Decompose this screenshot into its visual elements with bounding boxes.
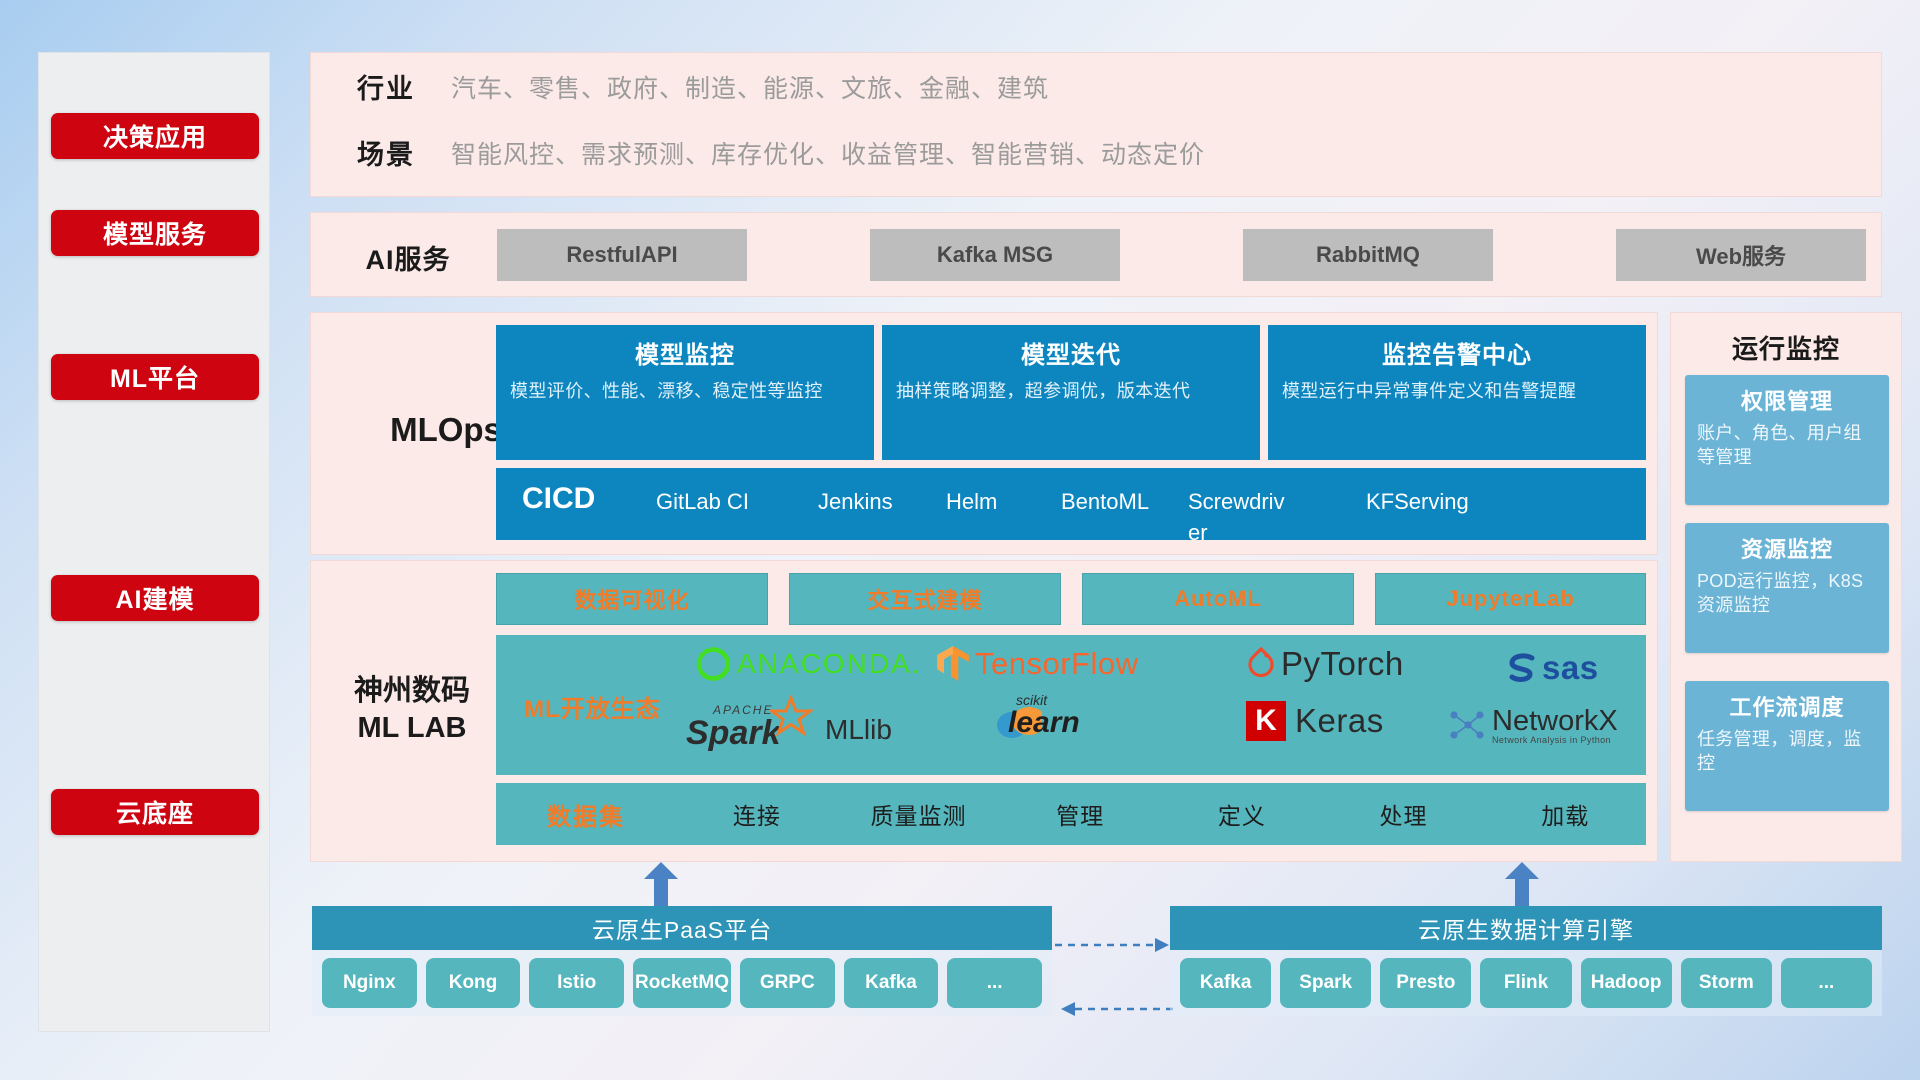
card-desc: POD运行监控，K8S资源监控 <box>1697 570 1877 618</box>
tensorflow-wordmark: TensorFlow <box>975 646 1139 682</box>
mlops-card-model-iteration[interactable]: 模型迭代 抽样策略调整，超参调优，版本迭代 <box>882 325 1260 460</box>
engine-pill-more[interactable]: ... <box>1781 958 1872 1008</box>
ai-service-chip-web-service[interactable]: Web服务 <box>1616 229 1866 281</box>
runtime-monitoring-title: 运行监控 <box>1671 329 1901 366</box>
dataset-item-quality[interactable]: 质量监测 <box>838 797 1000 831</box>
mlops-card-model-monitoring[interactable]: 模型监控 模型评价、性能、漂移、稳定性等监控 <box>496 325 874 460</box>
paas-pill-grpc[interactable]: GRPC <box>740 958 835 1008</box>
mlops-card-alert-center[interactable]: 监控告警中心 模型运行中异常事件定义和告警提醒 <box>1268 325 1646 460</box>
cicd-item-bentoml[interactable]: BentoML <box>1061 486 1166 517</box>
engine-pill-hadoop[interactable]: Hadoop <box>1581 958 1672 1008</box>
cloud-native-paas-header: 云原生PaaS平台 <box>312 906 1052 950</box>
cloud-native-data-engine-body: Kafka Spark Presto Flink Hadoop Storm ..… <box>1170 950 1882 1016</box>
cicd-title: CICD <box>522 482 595 516</box>
ml-lab-tab-data-visualization[interactable]: 数据可视化 <box>496 573 768 625</box>
sas-wordmark: sas <box>1542 649 1599 687</box>
card-title: 监控告警中心 <box>1282 335 1632 370</box>
keras-wordmark: Keras <box>1295 702 1384 740</box>
scenario-label: 场景 <box>321 133 451 172</box>
engine-pill-flink[interactable]: Flink <box>1480 958 1571 1008</box>
card-desc: 任务管理，调度，监控 <box>1697 728 1877 776</box>
monitor-card-workflow-scheduling[interactable]: 工作流调度 任务管理，调度，监控 <box>1685 681 1889 811</box>
monitor-card-permission-management[interactable]: 权限管理 账户、角色、用户组等管理 <box>1685 375 1889 505</box>
ml-lab-tab-jupyterlab[interactable]: JupyterLab <box>1375 573 1646 625</box>
engine-pill-kafka[interactable]: Kafka <box>1180 958 1271 1008</box>
cicd-item-jenkins[interactable]: Jenkins <box>818 486 923 517</box>
spark-wordmark: Spark <box>686 714 781 753</box>
dataset-item-connect[interactable]: 连接 <box>676 797 838 831</box>
ai-service-chip-kafka-msg[interactable]: Kafka MSG <box>870 229 1120 281</box>
rail-chip-decision-app[interactable]: 决策应用 <box>51 113 259 159</box>
architecture-diagram: 决策应用 模型服务 ML平台 AI建模 云底座 行业 汽车、零售、政府、制造、能… <box>0 0 1920 1080</box>
keras-logo: K Keras <box>1246 701 1384 741</box>
engine-pill-spark[interactable]: Spark <box>1280 958 1371 1008</box>
rail-chip-model-service[interactable]: 模型服务 <box>51 210 259 256</box>
ai-service-label: AI服务 <box>333 238 483 277</box>
up-arrow-paas-to-mllab <box>643 862 679 906</box>
cicd-item-kfserving[interactable]: KFServing <box>1366 486 1471 517</box>
paas-pill-rocketmq[interactable]: RocketMQ <box>633 958 731 1008</box>
engine-pill-presto[interactable]: Presto <box>1380 958 1471 1008</box>
runtime-monitoring-panel: 运行监控 权限管理 账户、角色、用户组等管理 资源监控 POD运行监控，K8S资… <box>1670 312 1902 862</box>
cicd-item-helm[interactable]: Helm <box>946 486 1051 517</box>
dataset-item-define[interactable]: 定义 <box>1161 797 1323 831</box>
dashed-arrow-right <box>1055 936 1175 954</box>
card-desc: 模型运行中异常事件定义和告警提醒 <box>1282 379 1632 404</box>
dataset-item-load[interactable]: 加载 <box>1484 797 1646 831</box>
card-title: 模型监控 <box>510 335 860 370</box>
dataset-label: 数据集 <box>496 797 676 832</box>
pytorch-logo: PyTorch <box>1246 645 1404 683</box>
rail-chip-cloud-base[interactable]: 云底座 <box>51 789 259 835</box>
cloud-native-data-engine-header: 云原生数据计算引擎 <box>1170 906 1882 950</box>
card-desc: 模型评价、性能、漂移、稳定性等监控 <box>510 379 860 404</box>
dataset-item-manage[interactable]: 管理 <box>999 797 1161 831</box>
engine-pill-storm[interactable]: Storm <box>1681 958 1772 1008</box>
ai-service-chip-restfulapi[interactable]: RestfulAPI <box>497 229 747 281</box>
ml-open-ecosystem-label: ML开放生态 <box>524 689 661 724</box>
cicd-item-gitlab-ci[interactable]: GitLab CI <box>656 486 761 517</box>
cloud-native-data-engine-group: 云原生数据计算引擎 Kafka Spark Presto Flink Hadoo… <box>1170 906 1882 1016</box>
scikit-learn-logo: scikit learn <box>996 703 1080 743</box>
ml-open-ecosystem-band: ML开放生态 ANACONDA. TensorFlow <box>496 635 1646 775</box>
card-title: 模型迭代 <box>896 335 1246 370</box>
paas-pill-more[interactable]: ... <box>947 958 1042 1008</box>
industry-values: 汽车、零售、政府、制造、能源、文旅、金融、建筑 <box>451 69 1049 105</box>
ml-lab-panel: 神州数码 ML LAB 数据可视化 交互式建模 AutoML JupyterLa… <box>310 560 1658 862</box>
keras-mark: K <box>1246 701 1286 741</box>
up-arrow-data-engine-to-mllab <box>1504 862 1540 906</box>
dataset-item-process[interactable]: 处理 <box>1323 797 1485 831</box>
tensorflow-logo: TensorFlow <box>936 645 1139 683</box>
apache-spark-mllib-logo: APACHE Spark MLlib <box>681 701 892 759</box>
card-desc: 账户、角色、用户组等管理 <box>1697 422 1877 470</box>
mllib-wordmark: MLlib <box>825 714 892 746</box>
ml-lab-label: 神州数码 ML LAB <box>327 673 497 746</box>
ai-service-chip-rabbitmq[interactable]: RabbitMQ <box>1243 229 1493 281</box>
industry-label: 行业 <box>321 67 451 106</box>
paas-pill-nginx[interactable]: Nginx <box>322 958 417 1008</box>
paas-pill-istio[interactable]: Istio <box>529 958 624 1008</box>
mlops-panel: MLOps 模型监控 模型评价、性能、漂移、稳定性等监控 模型迭代 抽样策略调整… <box>310 312 1658 555</box>
networkx-logo: NetworkX Network Analysis in Python <box>1446 705 1618 745</box>
ai-service-panel: AI服务 RestfulAPI Kafka MSG RabbitMQ Web服务 <box>310 212 1882 297</box>
cloud-native-paas-group: 云原生PaaS平台 Nginx Kong Istio RocketMQ GRPC… <box>312 906 1052 1016</box>
sas-logo: sas <box>1506 649 1599 687</box>
card-desc: 抽样策略调整，超参调优，版本迭代 <box>896 379 1246 404</box>
cicd-bar: CICD GitLab CI Jenkins Helm BentoML Scre… <box>496 468 1646 540</box>
rail-chip-ai-modeling[interactable]: AI建模 <box>51 575 259 621</box>
dashed-arrow-left <box>1055 1000 1175 1018</box>
rail-chip-ml-platform[interactable]: ML平台 <box>51 354 259 400</box>
industry-row: 行业 汽车、零售、政府、制造、能源、文旅、金融、建筑 <box>321 67 1049 106</box>
pytorch-wordmark: PyTorch <box>1281 645 1404 683</box>
networkx-wordmark: NetworkX <box>1492 705 1618 738</box>
cicd-item-screwdriver[interactable]: Screwdriver <box>1188 486 1293 540</box>
card-title: 权限管理 <box>1697 384 1877 416</box>
scenario-row: 场景 智能风控、需求预测、库存优化、收益管理、智能营销、动态定价 <box>321 133 1205 172</box>
card-title: 工作流调度 <box>1697 690 1877 722</box>
anaconda-wordmark: ANACONDA. <box>737 648 921 680</box>
ml-lab-label-line1: 神州数码 <box>327 673 497 710</box>
cloud-native-paas-body: Nginx Kong Istio RocketMQ GRPC Kafka ... <box>312 950 1052 1016</box>
dataset-band: 数据集 连接 质量监测 管理 定义 处理 加载 <box>496 783 1646 845</box>
paas-pill-kafka[interactable]: Kafka <box>844 958 939 1008</box>
learn-wordmark: learn <box>1008 706 1080 739</box>
paas-pill-kong[interactable]: Kong <box>426 958 521 1008</box>
ml-lab-tab-automl[interactable]: AutoML <box>1082 573 1354 625</box>
monitor-card-resource-monitoring[interactable]: 资源监控 POD运行监控，K8S资源监控 <box>1685 523 1889 653</box>
ml-lab-label-line2: ML LAB <box>327 710 497 747</box>
industry-scenario-panel: 行业 汽车、零售、政府、制造、能源、文旅、金融、建筑 场景 智能风控、需求预测、… <box>310 52 1882 197</box>
scenario-values: 智能风控、需求预测、库存优化、收益管理、智能营销、动态定价 <box>451 135 1205 171</box>
ml-lab-tab-interactive-modeling[interactable]: 交互式建模 <box>789 573 1061 625</box>
left-layer-rail: 决策应用 模型服务 ML平台 AI建模 云底座 <box>38 52 270 1032</box>
anaconda-logo: ANACONDA. <box>696 647 921 681</box>
networkx-tagline: Network Analysis in Python <box>1492 735 1618 745</box>
card-title: 资源监控 <box>1697 532 1877 564</box>
scikit-wordmark: scikit <box>1016 692 1047 708</box>
